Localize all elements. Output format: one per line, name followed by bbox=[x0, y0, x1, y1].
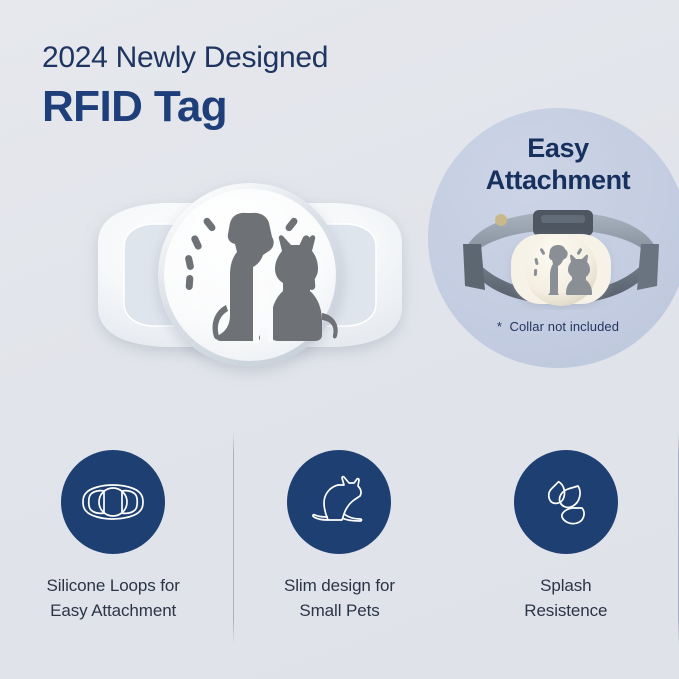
feature-label-silicone-loops: Silicone Loops for Easy Attachment bbox=[46, 573, 179, 623]
sitting-cat-glyph bbox=[310, 475, 368, 529]
easy-attachment-title-line2: Attachment bbox=[440, 164, 676, 196]
water-droplets-splash-icon bbox=[514, 450, 618, 554]
pet-collar-with-tag-illustration bbox=[455, 198, 667, 310]
headline-title: RFID Tag bbox=[42, 80, 462, 134]
collar-right-segment bbox=[637, 244, 659, 290]
feature-label-slim-design: Slim design for Small Pets bbox=[284, 573, 395, 623]
collar-d-ring bbox=[495, 214, 507, 226]
feature-item-slim-design: Slim design for Small Pets bbox=[226, 432, 452, 652]
feature-list: Silicone Loops for Easy Attachment Slim … bbox=[0, 432, 679, 652]
collar-disclaimer: * Collar not included bbox=[440, 319, 676, 334]
collar-photo bbox=[455, 198, 667, 310]
water-droplets-glyph bbox=[538, 474, 594, 530]
silicone-loops-holder-icon bbox=[61, 450, 165, 554]
feature-item-silicone-loops: Silicone Loops for Easy Attachment bbox=[0, 432, 226, 652]
easy-attachment-title: Easy Attachment bbox=[440, 132, 676, 196]
rfid-pet-tag-illustration bbox=[60, 155, 440, 395]
hero-product-image bbox=[60, 155, 440, 395]
feature-label-splash-resistance: Splash Resistence bbox=[524, 573, 607, 623]
easy-attachment-title-line1: Easy bbox=[440, 132, 676, 164]
collar-left-segment bbox=[463, 244, 485, 290]
silicone-loops-glyph bbox=[80, 477, 146, 527]
product-infographic: 2024 Newly Designed RFID Tag bbox=[0, 0, 679, 679]
headline-subtitle: 2024 Newly Designed bbox=[42, 40, 462, 76]
sitting-cat-icon bbox=[287, 450, 391, 554]
feature-item-splash-resistance: Splash Resistence bbox=[453, 432, 679, 652]
attached-rfid-tag bbox=[511, 234, 611, 306]
collar-buckle-bar bbox=[541, 215, 585, 223]
page-title: 2024 Newly Designed RFID Tag bbox=[42, 40, 462, 134]
